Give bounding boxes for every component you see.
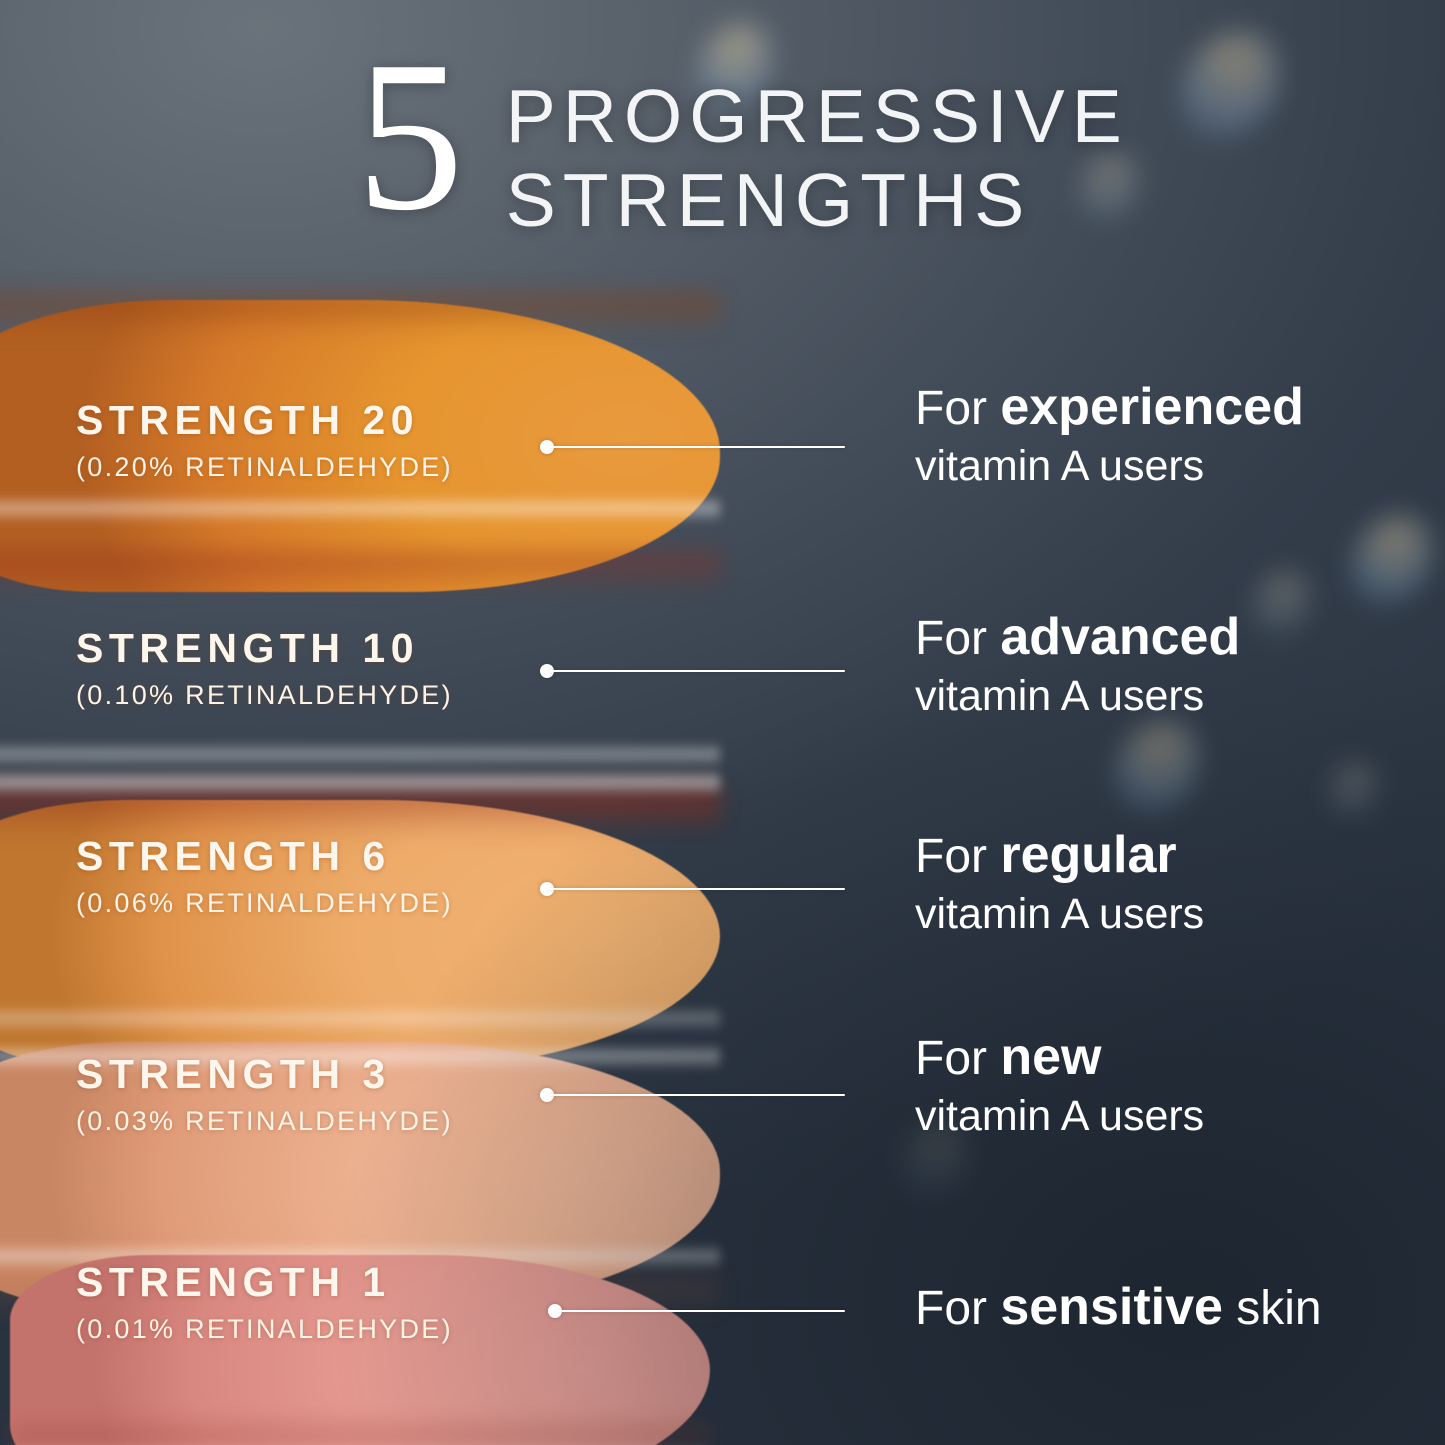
strength-title: STRENGTH 1: [76, 1262, 453, 1303]
callout-emphasis: new: [1000, 1028, 1101, 1086]
strength-title: STRENGTH 10: [76, 628, 453, 669]
callout-line-2: vitamin A users: [915, 671, 1240, 722]
headline-line-2: STRENGTHS: [506, 158, 1129, 242]
strength-label-20: STRENGTH 20 (0.20% RETINALDEHYDE): [76, 400, 453, 481]
connector-stem: [557, 1310, 845, 1313]
strength-concentration: (0.06% RETINALDEHYDE): [76, 890, 453, 917]
callout-line-1: For experienced: [915, 378, 1304, 437]
callout-emphasis: experienced: [1000, 378, 1304, 436]
connector-line-3: [540, 1086, 850, 1100]
callout-prefix: For: [915, 612, 987, 665]
callout-regular: For regular vitamin A users: [915, 826, 1204, 940]
callout-line-2: vitamin A users: [915, 889, 1204, 940]
headline: 5 PROGRESSIVE STRENGTHS: [0, 52, 1445, 242]
strength-label-1: STRENGTH 1 (0.01% RETINALDEHYDE): [76, 1262, 453, 1343]
strength-concentration: (0.10% RETINALDEHYDE): [76, 682, 453, 709]
callout-experienced: For experienced vitamin A users: [915, 378, 1304, 492]
callout-line-2: vitamin A users: [915, 1091, 1204, 1142]
callout-line-1: For advanced: [915, 608, 1240, 667]
headline-text: PROGRESSIVE STRENGTHS: [506, 52, 1129, 242]
callout-line-1: For sensitive skin: [915, 1278, 1322, 1337]
callout-prefix: For: [915, 830, 987, 883]
callout-emphasis: sensitive: [1000, 1278, 1223, 1336]
callout-emphasis: advanced: [1000, 608, 1240, 666]
callout-emphasis: regular: [1000, 826, 1176, 884]
connector-line-20: [540, 438, 850, 452]
callout-prefix: For: [915, 1282, 987, 1335]
infographic-stage: 5 PROGRESSIVE STRENGTHS STRENGTH 20 (0.2…: [0, 0, 1445, 1445]
callout-line-1: For regular: [915, 826, 1204, 885]
strength-label-10: STRENGTH 10 (0.10% RETINALDEHYDE): [76, 628, 453, 709]
connector-line-10: [540, 662, 850, 676]
connector-stem: [549, 670, 845, 673]
headline-line-1: PROGRESSIVE: [506, 74, 1129, 158]
strength-title: STRENGTH 3: [76, 1054, 453, 1095]
strength-label-6: STRENGTH 6 (0.06% RETINALDEHYDE): [76, 836, 453, 917]
strength-concentration: (0.03% RETINALDEHYDE): [76, 1108, 453, 1135]
connector-line-6: [540, 880, 850, 894]
strength-concentration: (0.20% RETINALDEHYDE): [76, 454, 453, 481]
strength-concentration: (0.01% RETINALDEHYDE): [76, 1316, 453, 1343]
callout-prefix: For: [915, 382, 987, 435]
callout-sensitive: For sensitive skin: [915, 1278, 1322, 1337]
callout-line-2: vitamin A users: [915, 441, 1304, 492]
strength-label-3: STRENGTH 3 (0.03% RETINALDEHYDE): [76, 1054, 453, 1135]
callout-prefix: For: [915, 1032, 987, 1085]
callout-advanced: For advanced vitamin A users: [915, 608, 1240, 722]
callout-new: For new vitamin A users: [915, 1028, 1204, 1142]
connector-stem: [549, 1094, 845, 1097]
callout-suffix: skin: [1236, 1282, 1321, 1335]
headline-numeral: 5: [356, 44, 464, 229]
strength-title: STRENGTH 20: [76, 400, 453, 441]
callout-line-1: For new: [915, 1028, 1204, 1087]
connector-stem: [549, 446, 845, 449]
connector-line-1: [548, 1302, 848, 1316]
strength-title: STRENGTH 6: [76, 836, 453, 877]
connector-stem: [549, 888, 845, 891]
